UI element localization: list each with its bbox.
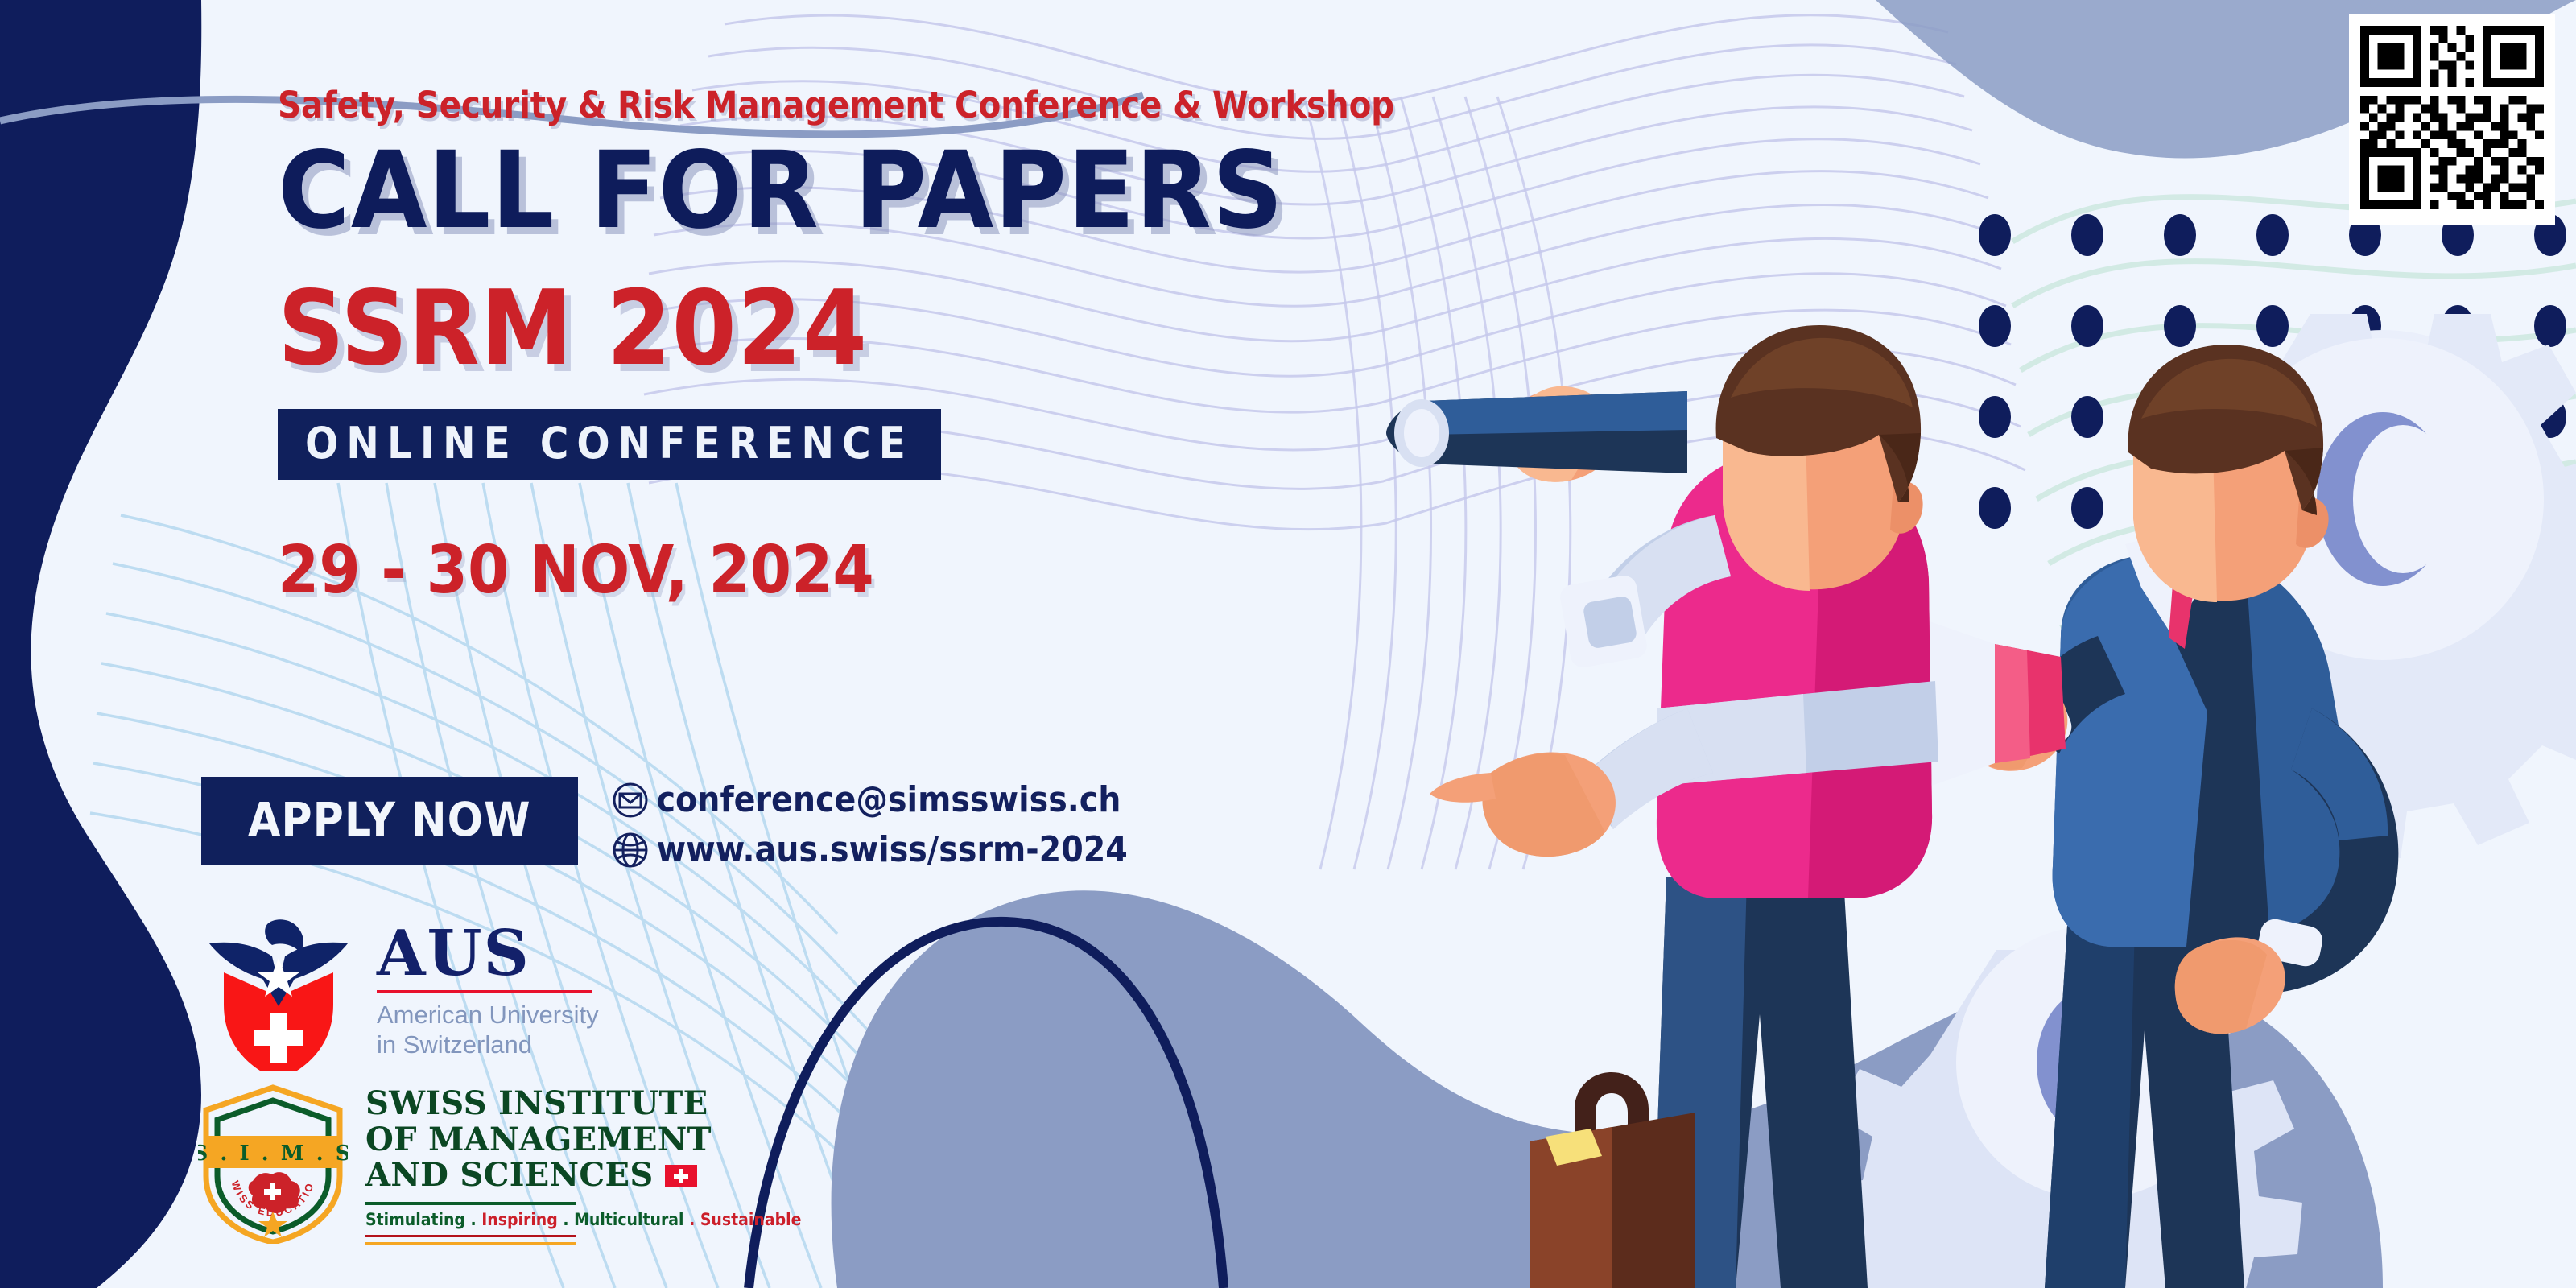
apply-now-label: APPLY NOW	[248, 796, 531, 843]
headline-block: Safety, Security & Risk Management Confe…	[278, 87, 1646, 604]
sims-shield-icon: S . I . M . S SWISS EDUCATION	[198, 1083, 348, 1248]
sims-tagline-word-4: Sustainable	[700, 1210, 802, 1229]
svg-text:S . I . M . S: S . I . M . S	[198, 1141, 348, 1166]
sims-tagline-word-2: Inspiring	[481, 1210, 558, 1229]
aus-logo-text: AUS American University in Switzerland	[377, 924, 599, 1059]
aus-divider	[377, 990, 592, 993]
sims-tagline: Stimulating . Inspiring . Multicultural …	[365, 1212, 801, 1228]
qr-code-icon[interactable]	[2349, 14, 2555, 225]
sims-name-line2: OF MANAGEMENT	[365, 1122, 801, 1158]
apply-now-button[interactable]: APPLY NOW	[201, 777, 578, 865]
sims-green-divider	[365, 1202, 576, 1205]
globe-icon	[612, 832, 649, 869]
sims-name-line3: AND SCIENCES	[365, 1158, 654, 1194]
sims-tagline-word-3: Multicultural	[574, 1210, 683, 1229]
swiss-flag-icon	[665, 1165, 697, 1187]
sims-name-line3-row: AND SCIENCES	[365, 1158, 801, 1194]
contact-website: www.aus.swiss/ssrm-2024	[657, 832, 1128, 868]
event-name: SSRM 2024	[278, 279, 1646, 379]
conference-poster: Safety, Security & Risk Management Confe…	[0, 0, 2576, 1288]
sims-logo-text: SWISS INSTITUTE OF MANAGEMENT AND SCIENC…	[365, 1086, 801, 1245]
sims-red-divider	[365, 1235, 576, 1237]
aus-abbreviation: AUS	[377, 924, 599, 984]
event-dates: 29 - 30 NOV, 2024	[278, 538, 1646, 604]
conference-mode-badge: ONLINE CONFERENCE	[278, 409, 941, 480]
aus-subtitle-line1: American University	[377, 1001, 599, 1030]
sims-gold-divider	[365, 1242, 576, 1245]
page-title: CALL FOR PAPERS	[278, 139, 1687, 243]
aus-subtitle-line2: in Switzerland	[377, 1030, 599, 1060]
envelope-icon	[612, 782, 649, 819]
partner-logos: AUS American University in Switzerland	[198, 910, 801, 1248]
sims-tagline-word-1: Stimulating	[365, 1210, 465, 1229]
cta-row: APPLY NOW conference@simsswiss.ch	[201, 777, 1128, 881]
eagle-shield-swiss-cross-icon	[198, 910, 359, 1075]
conference-kicker: Safety, Security & Risk Management Confe…	[278, 87, 1646, 123]
conference-mode-label: ONLINE CONFERENCE	[305, 422, 914, 465]
sims-name-line1: SWISS INSTITUTE	[365, 1086, 801, 1122]
contact-website-row[interactable]: www.aus.swiss/ssrm-2024	[612, 832, 1128, 869]
contact-info: conference@simsswiss.ch www.aus.swiss/ss…	[612, 777, 1128, 881]
contact-email-row[interactable]: conference@simsswiss.ch	[612, 782, 1128, 819]
sims-logo: S . I . M . S SWISS EDUCATION SWISS INST…	[198, 1083, 801, 1248]
contact-email: conference@simsswiss.ch	[657, 782, 1121, 818]
aus-logo: AUS American University in Switzerland	[198, 910, 801, 1075]
